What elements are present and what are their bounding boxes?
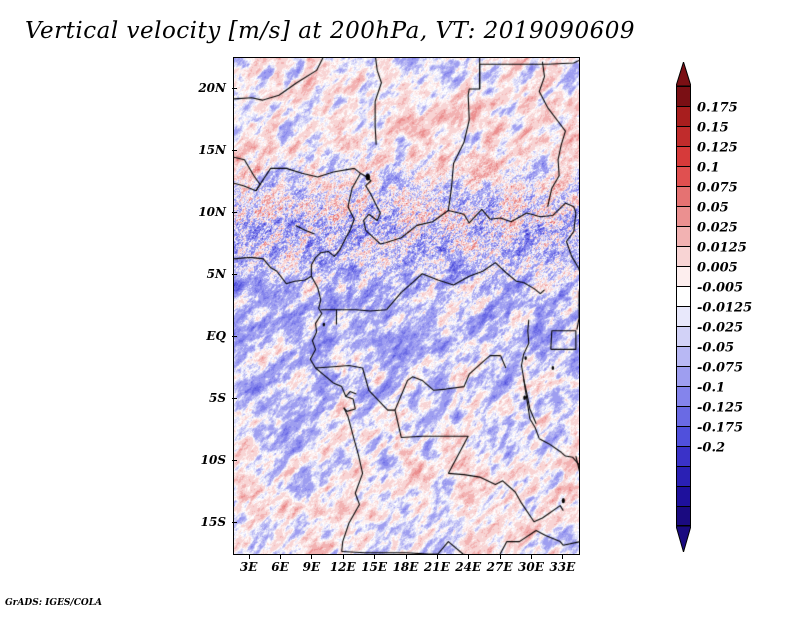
y-axis-tick-label: 5N bbox=[207, 267, 226, 281]
colorbar-band bbox=[676, 306, 691, 326]
colorbar-tick-label: -0.025 bbox=[697, 321, 743, 336]
y-axis-tick-mark bbox=[232, 274, 237, 275]
y-axis-tick-mark bbox=[232, 460, 237, 461]
y-axis-tick-label: 10N bbox=[198, 205, 226, 219]
x-axis-tick-label: 21E bbox=[424, 560, 450, 574]
x-axis-tick-mark bbox=[531, 554, 532, 559]
x-axis-tick-label: 33E bbox=[549, 560, 575, 574]
colorbar-tick-label: 0.075 bbox=[697, 181, 738, 196]
page-title: Vertical velocity [m/s] at 200hPa, VT: 2… bbox=[0, 18, 660, 44]
y-axis-tick-label: EQ bbox=[206, 329, 226, 343]
colorbar-tick-label: 0.005 bbox=[697, 261, 738, 276]
colorbar-tick-label: -0.2 bbox=[697, 441, 725, 456]
x-axis-tick-mark bbox=[562, 554, 563, 559]
y-axis-tick-mark bbox=[232, 88, 237, 89]
x-axis-tick-label: 9E bbox=[303, 560, 321, 574]
colorbar-band bbox=[676, 86, 691, 106]
colorbar-tick-label: 0.125 bbox=[697, 141, 738, 156]
y-axis-tick-mark bbox=[232, 150, 237, 151]
x-axis-tick-mark bbox=[500, 554, 501, 559]
colorbar-band bbox=[676, 166, 691, 186]
map-plot-area bbox=[233, 57, 580, 555]
colorbar-band bbox=[676, 506, 691, 526]
colorbar-band bbox=[676, 146, 691, 166]
x-axis-tick-mark bbox=[468, 554, 469, 559]
x-axis-tick-mark bbox=[437, 554, 438, 559]
colorbar-band bbox=[676, 366, 691, 386]
colorbar-tick-label: -0.125 bbox=[697, 401, 743, 416]
x-axis-tick-label: 18E bbox=[393, 560, 419, 574]
y-axis-tick-mark bbox=[232, 398, 237, 399]
colorbar-tick-label: -0.05 bbox=[697, 341, 734, 356]
colorbar-band bbox=[676, 266, 691, 286]
x-axis-tick-mark bbox=[343, 554, 344, 559]
x-axis-tick-mark bbox=[311, 554, 312, 559]
colorbar-tick-label: 0.175 bbox=[697, 101, 738, 116]
colorbar-max-arrow-icon bbox=[676, 62, 691, 86]
colorbar-tick-label: -0.005 bbox=[697, 281, 743, 296]
y-axis: 20N15N10N5NEQ5S10S15S bbox=[178, 57, 226, 553]
x-axis-tick-mark bbox=[280, 554, 281, 559]
colorbar-band bbox=[676, 326, 691, 346]
colorbar-band bbox=[676, 446, 691, 466]
x-axis-tick-label: 6E bbox=[271, 560, 289, 574]
y-axis-tick-label: 15N bbox=[198, 143, 226, 157]
y-axis-tick-label: 10S bbox=[201, 453, 226, 467]
y-axis-tick-mark bbox=[232, 336, 237, 337]
grads-credit: GrADS: IGES/COLA bbox=[5, 598, 102, 608]
colorbar-tick-label: -0.075 bbox=[697, 361, 743, 376]
y-axis-tick-label: 20N bbox=[198, 81, 226, 95]
x-axis-tick-label: 30E bbox=[518, 560, 544, 574]
colorbar-tick-label: -0.1 bbox=[697, 381, 725, 396]
colorbar-tick-label: -0.175 bbox=[697, 421, 743, 436]
colorbar-min-arrow-icon bbox=[676, 526, 691, 552]
x-axis-tick-label: 3E bbox=[240, 560, 258, 574]
x-axis-tick-mark bbox=[406, 554, 407, 559]
x-axis-tick-label: 12E bbox=[330, 560, 356, 574]
colorbar-tick-label: 0.05 bbox=[697, 201, 729, 216]
colorbar-tick-label: -0.0125 bbox=[697, 301, 752, 316]
y-axis-tick-label: 15S bbox=[201, 515, 226, 529]
colorbar-band bbox=[676, 346, 691, 366]
x-axis-tick-mark bbox=[374, 554, 375, 559]
x-axis-tick-label: 15E bbox=[361, 560, 387, 574]
x-axis-tick-mark bbox=[249, 554, 250, 559]
x-axis-tick-label: 27E bbox=[487, 560, 513, 574]
colorbar-band bbox=[676, 426, 691, 446]
colorbar-band bbox=[676, 286, 691, 306]
y-axis-tick-label: 5S bbox=[209, 391, 226, 405]
colorbar-band bbox=[676, 206, 691, 226]
colorbar-band bbox=[676, 126, 691, 146]
colorbar-tick-label: 0.15 bbox=[697, 121, 729, 136]
x-axis: 3E6E9E12E15E18E21E24E27E30E33E bbox=[233, 560, 578, 580]
country-borders-overlay bbox=[234, 58, 579, 554]
x-axis-tick-label: 24E bbox=[455, 560, 481, 574]
colorbar-band bbox=[676, 386, 691, 406]
colorbar-band bbox=[676, 186, 691, 206]
colorbar-tick-label: 0.0125 bbox=[697, 241, 747, 256]
colorbar-band bbox=[676, 466, 691, 486]
colorbar bbox=[676, 86, 691, 526]
colorbar-tick-label: 0.1 bbox=[697, 161, 720, 176]
colorbar-tick-label: 0.025 bbox=[697, 221, 738, 236]
colorbar-band bbox=[676, 246, 691, 266]
colorbar-band bbox=[676, 486, 691, 506]
colorbar-band bbox=[676, 106, 691, 126]
colorbar-band bbox=[676, 226, 691, 246]
y-axis-tick-mark bbox=[232, 522, 237, 523]
colorbar-band bbox=[676, 406, 691, 426]
y-axis-tick-mark bbox=[232, 212, 237, 213]
